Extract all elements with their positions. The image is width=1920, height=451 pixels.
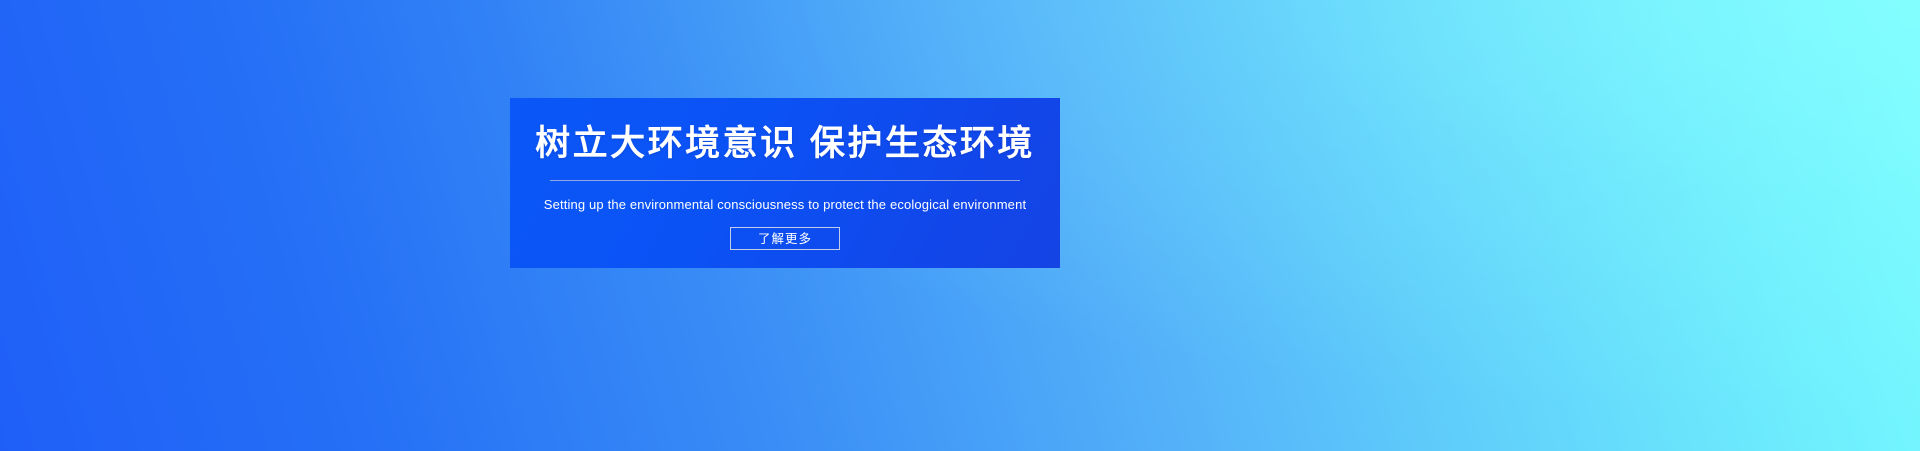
hero-headline: 树立大环境意识 保护生态环境 [535, 126, 1035, 163]
hero-subtitle: Setting up the environmental consciousne… [544, 197, 1026, 212]
headline-divider [550, 180, 1020, 181]
learn-more-button[interactable]: 了解更多 [730, 227, 840, 250]
hero-content-box: 树立大环境意识 保护生态环境 Setting up the environmen… [510, 98, 1060, 268]
hero-banner: 树立大环境意识 保护生态环境 Setting up the environmen… [0, 0, 1920, 451]
